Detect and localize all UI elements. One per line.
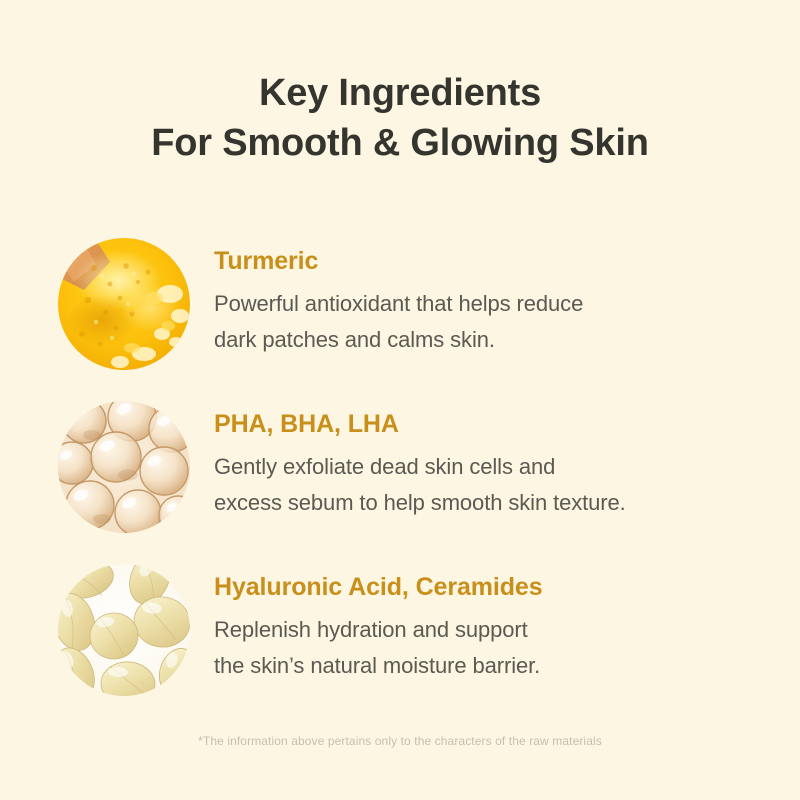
ingredient-description: Replenish hydration and support the skin… (214, 612, 734, 684)
ingredient-list: Turmeric Powerful antioxidant that helps… (0, 238, 800, 727)
ingredient-text: Turmeric Powerful antioxidant that helps… (214, 246, 734, 358)
turmeric-powder-photo (58, 238, 190, 370)
ingredient-text: Hyaluronic Acid, Ceramides Replenish hyd… (214, 572, 734, 684)
ingredient-row: Hyaluronic Acid, Ceramides Replenish hyd… (0, 564, 800, 727)
ingredient-description: Gently exfoliate dead skin cells and exc… (214, 449, 734, 521)
ingredient-row: Turmeric Powerful antioxidant that helps… (0, 238, 800, 401)
title-line-2: For Smooth & Glowing Skin (0, 118, 800, 168)
ingredient-name: PHA, BHA, LHA (214, 409, 734, 439)
page-title: Key Ingredients For Smooth & Glowing Ski… (0, 68, 800, 168)
ingredient-name: Hyaluronic Acid, Ceramides (214, 572, 734, 602)
ingredient-name: Turmeric (214, 246, 734, 276)
capsules-photo (58, 564, 190, 696)
ingredient-description: Powerful antioxidant that helps reduce d… (214, 286, 734, 358)
infographic-page: Key Ingredients For Smooth & Glowing Ski… (0, 0, 800, 800)
ingredient-row: PHA, BHA, LHA Gently exfoliate dead skin… (0, 401, 800, 564)
title-line-1: Key Ingredients (0, 68, 800, 118)
footnote-disclaimer: *The information above pertains only to … (0, 734, 800, 748)
acid-bubbles-photo (58, 401, 190, 533)
ingredient-text: PHA, BHA, LHA Gently exfoliate dead skin… (214, 409, 734, 521)
